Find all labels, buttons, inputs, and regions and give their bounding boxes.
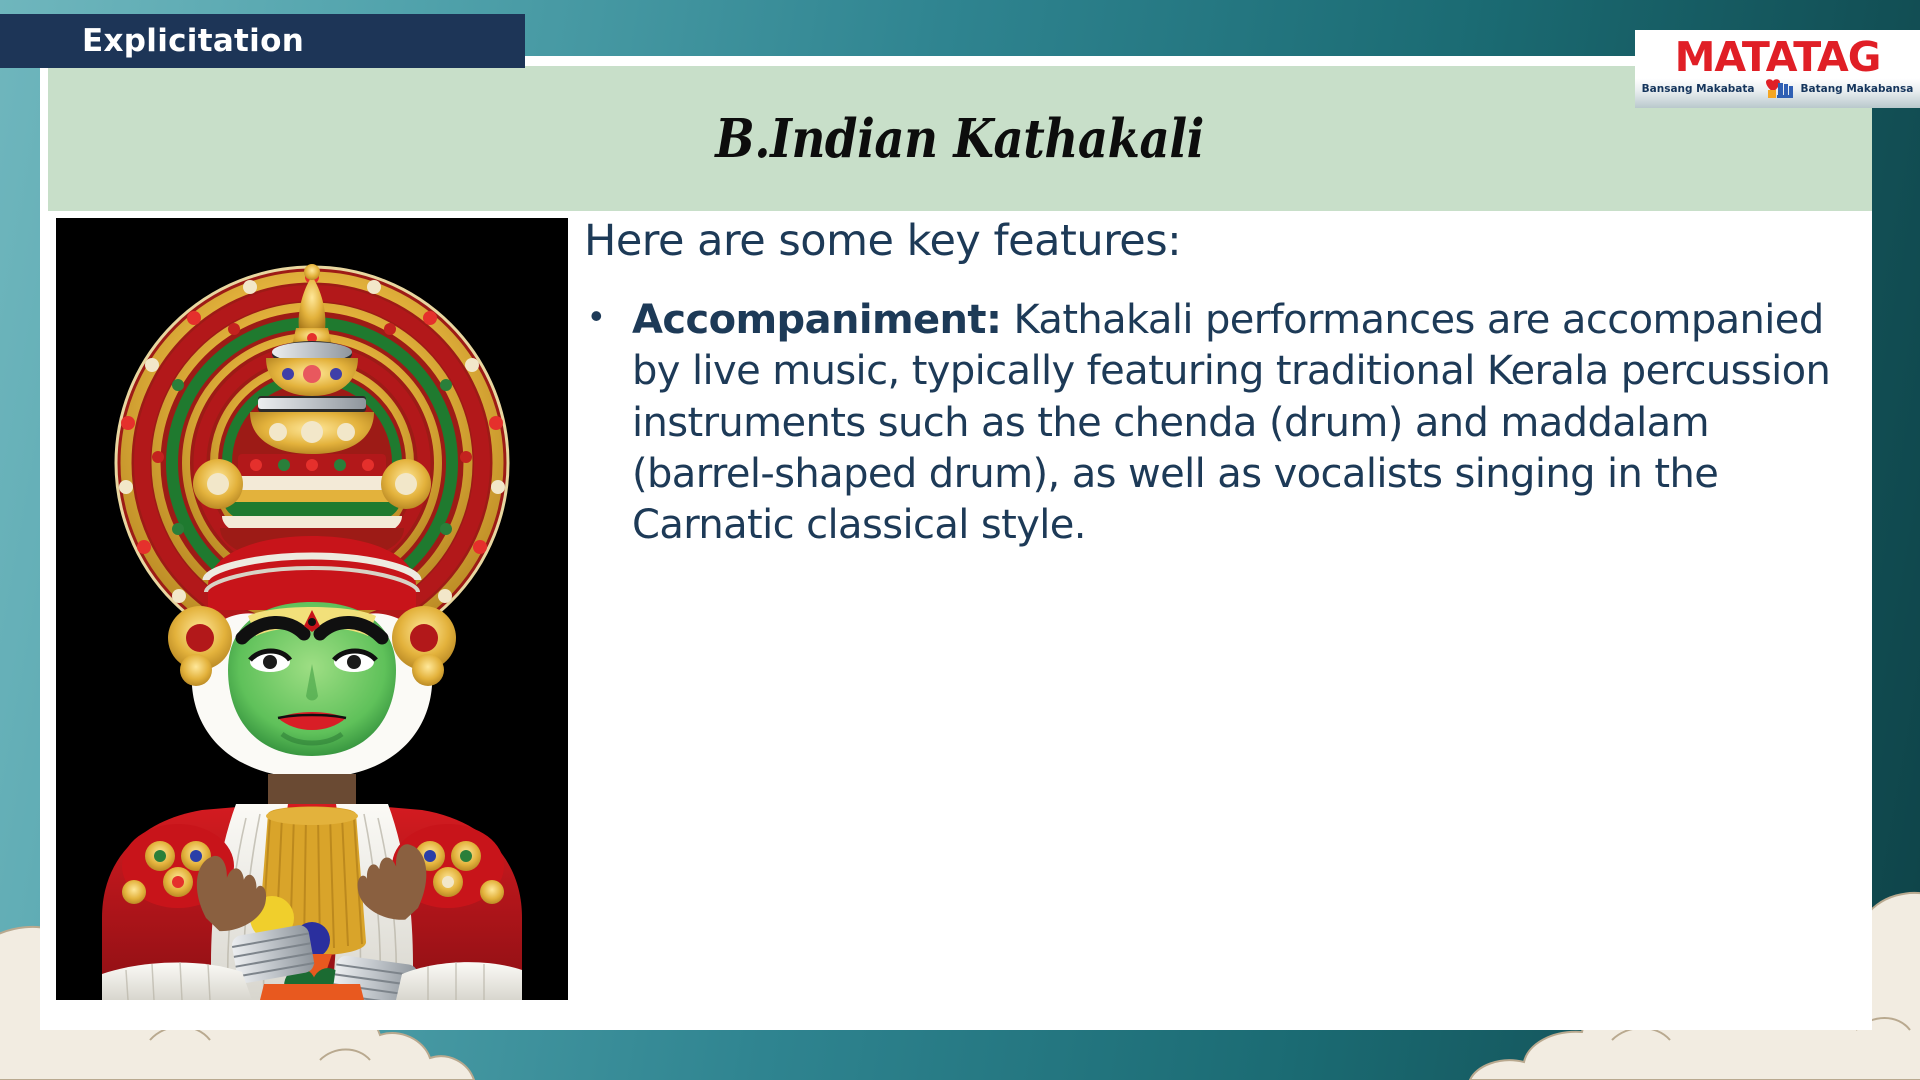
matatag-tagline-left: Bansang Makabata bbox=[1642, 83, 1755, 95]
bullet-term: Accompaniment: bbox=[632, 297, 1001, 343]
text-content-column: Here are some key features: • Accompanim… bbox=[568, 218, 1872, 1008]
matatag-tagline: Bansang Makabata Batang Makabansa bbox=[1642, 78, 1914, 100]
lead-paragraph: Here are some key features: bbox=[584, 218, 1862, 265]
slide-body: Here are some key features: • Accompanim… bbox=[48, 218, 1872, 1008]
heart-hands-icon bbox=[1760, 78, 1796, 100]
section-header-label: Explicitation bbox=[0, 23, 304, 59]
matatag-wordmark: MATATAG bbox=[1675, 38, 1881, 77]
bullet-item: • Accompaniment: Kathakali performances … bbox=[584, 295, 1862, 551]
kathakali-dancer-photo bbox=[56, 218, 568, 1000]
bullet-marker-icon: • bbox=[584, 295, 632, 337]
section-header-banner: Explicitation bbox=[0, 14, 525, 68]
bullet-paragraph: Accompaniment: Kathakali performances ar… bbox=[632, 295, 1862, 551]
slide-title-band: B.Indian Kathakali bbox=[48, 66, 1872, 211]
matatag-logo: MATATAG Bansang Makabata Batang Makabans… bbox=[1635, 30, 1920, 108]
slide-title: B.Indian Kathakali bbox=[716, 108, 1205, 170]
matatag-tagline-right: Batang Makabansa bbox=[1801, 83, 1914, 95]
